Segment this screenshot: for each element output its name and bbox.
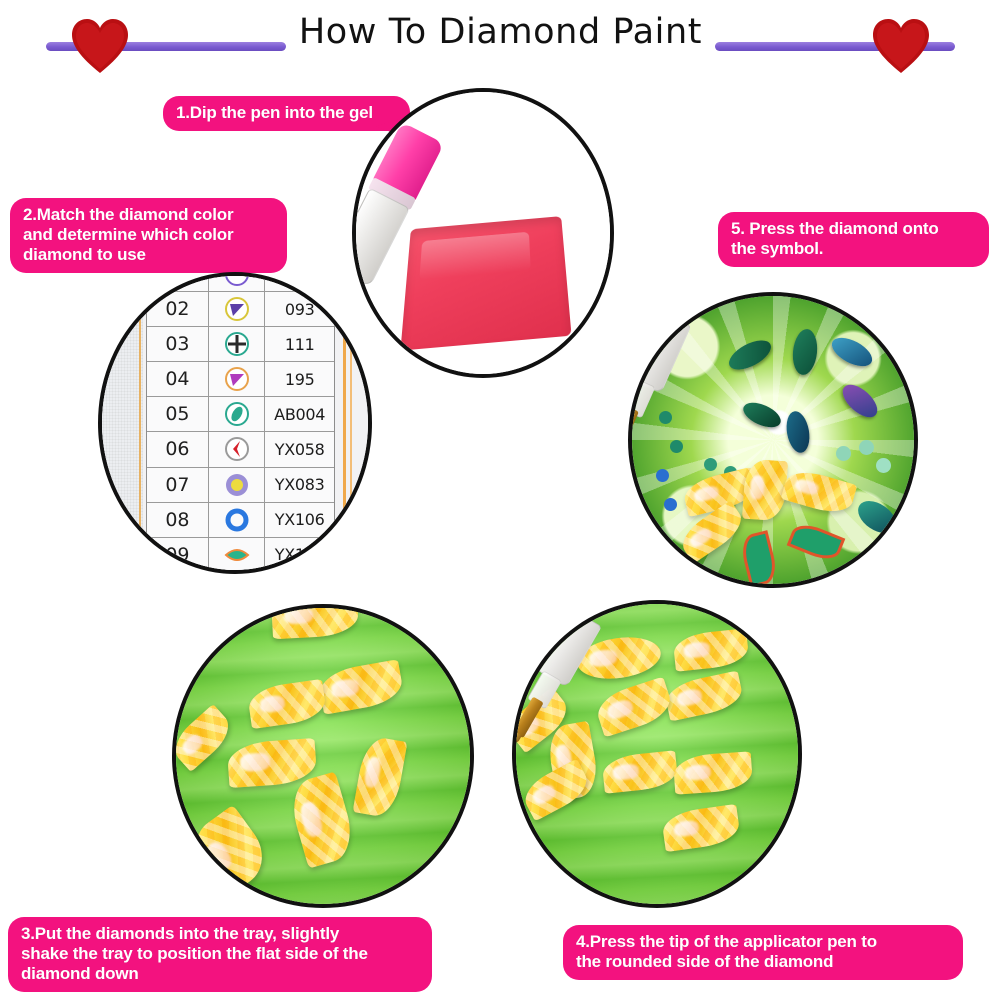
- cell-number: 10: [147, 573, 209, 574]
- table-row: 10: [147, 573, 334, 574]
- cell-code: YX083: [265, 475, 333, 494]
- dot-ring-circle-icon: [224, 472, 250, 498]
- cell-code: YX106: [265, 510, 333, 529]
- step-5-label-line-1: 5. Press the diamond onto: [731, 219, 976, 239]
- diamond-gem-yellow: [601, 750, 678, 794]
- step-1-photo: [352, 88, 614, 378]
- diamond-dot: [656, 469, 669, 482]
- diamond-dot: [704, 458, 717, 471]
- cell-number: 02: [147, 292, 209, 326]
- table-row: 04 195: [147, 362, 334, 397]
- diamond-gem-yellow: [673, 751, 753, 794]
- cell-symbol: [209, 397, 266, 431]
- double-dot-circle-icon: [224, 272, 250, 287]
- step-4-label: 4.Press the tip of the applicator pen to…: [563, 925, 963, 980]
- step-2-label-line-3: diamond to use: [23, 245, 274, 265]
- step-3-label: 3.Put the diamonds into the tray, slight…: [8, 917, 432, 992]
- cell-symbol: [209, 573, 266, 574]
- open-ring-circle-icon: [224, 507, 250, 533]
- cell-symbol: [209, 272, 266, 291]
- plus-circle-icon: [224, 331, 250, 357]
- cell-symbol: [209, 538, 266, 572]
- table-row: 07 YX083: [147, 468, 334, 503]
- step-3-label-line-3: diamond down: [21, 964, 419, 984]
- cell-code: 093: [265, 300, 333, 319]
- header: How To Diamond Paint: [0, 0, 1001, 82]
- triangle-circle-icon: [224, 366, 250, 392]
- cell-symbol: [209, 292, 266, 326]
- diamond-gem-yellow: [742, 459, 788, 522]
- cell-symbol: [209, 362, 266, 396]
- step-4-photo: [512, 600, 802, 908]
- diamond-dot: [670, 440, 683, 453]
- cell-number: 01: [147, 272, 209, 291]
- cell-code: AB004: [265, 405, 333, 424]
- step-3-label-line-1: 3.Put the diamonds into the tray, slight…: [21, 924, 419, 944]
- table-row: 09 YX125: [147, 538, 334, 573]
- step-2-label-line-1: 2.Match the diamond color: [23, 205, 274, 225]
- step-5-photo: [628, 292, 918, 588]
- table-row: 03 111: [147, 327, 334, 362]
- table-row: 01 020: [147, 272, 334, 292]
- table-row: 08 YX106: [147, 503, 334, 538]
- diamond-gem-yellow: [271, 604, 359, 639]
- cell-code: YX125: [265, 545, 333, 564]
- table-row: 02 093: [147, 292, 334, 327]
- table-row: 05 AB004: [147, 397, 334, 432]
- step-5-label-line-2: the symbol.: [731, 239, 976, 259]
- diamond-dot: [876, 458, 891, 473]
- step-2-photo-color-chart: 01 020 02: [98, 272, 372, 574]
- triangle-circle-icon: [224, 296, 250, 322]
- chart-guide-line: [139, 274, 141, 572]
- canvas-fabric-edge: [100, 274, 143, 572]
- cell-code: YX058: [265, 440, 333, 459]
- step-3-photo: [172, 604, 474, 908]
- chart-guide-line: [350, 274, 352, 572]
- diamond-dot: [859, 440, 874, 455]
- arrow-left-circle-icon: [224, 436, 250, 462]
- cell-number: 05: [147, 397, 209, 431]
- cell-code: 111: [265, 335, 333, 354]
- cell-symbol: [209, 468, 266, 502]
- step-5-label: 5. Press the diamond onto the symbol.: [718, 212, 989, 267]
- step-4-label-line-1: 4.Press the tip of the applicator pen to: [576, 932, 950, 952]
- diamond-dot: [836, 446, 851, 461]
- cell-code: 020: [265, 272, 333, 284]
- step-4-label-line-2: the rounded side of the diamond: [576, 952, 950, 972]
- chart-guide-line: [343, 274, 346, 572]
- cell-number: 08: [147, 503, 209, 537]
- table-row: 06 YX058: [147, 432, 334, 467]
- step-2-label: 2.Match the diamond color and determine …: [10, 198, 287, 273]
- color-chart: 01 020 02: [100, 274, 370, 572]
- cell-number: 04: [147, 362, 209, 396]
- step-2-label-line-2: and determine which color: [23, 225, 274, 245]
- cell-symbol: [209, 432, 266, 466]
- cell-number: 07: [147, 468, 209, 502]
- color-chart-table: 01 020 02: [146, 272, 335, 574]
- cell-number: 03: [147, 327, 209, 361]
- cell-number: 09: [147, 538, 209, 572]
- page-title: How To Diamond Paint: [0, 12, 1001, 52]
- cell-number: 06: [147, 432, 209, 466]
- gel-pad: [400, 216, 571, 350]
- leaf-circle-icon: [224, 401, 250, 427]
- step-3-label-line-2: shake the tray to position the flat side…: [21, 944, 419, 964]
- diamond-dot: [659, 411, 672, 424]
- cell-symbol: [209, 503, 266, 537]
- cell-code: 195: [265, 370, 333, 389]
- marquise-leaf-icon: [224, 542, 250, 568]
- infographic-canvas: How To Diamond Paint 1.Dip the pen into …: [0, 0, 1001, 1001]
- cell-symbol: [209, 327, 266, 361]
